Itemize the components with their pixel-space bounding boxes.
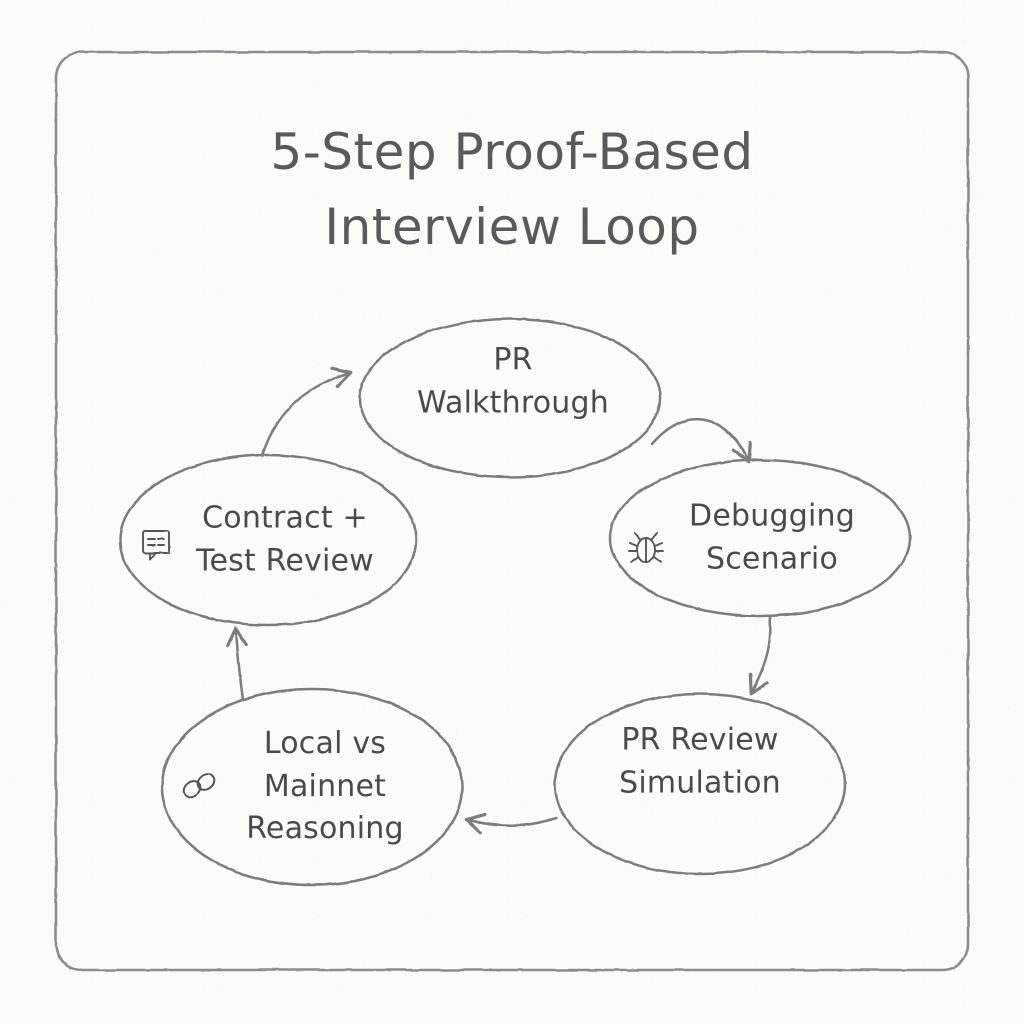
bug-icon	[629, 533, 663, 562]
node-ellipse-contract-test-review[interactable]	[120, 455, 416, 625]
node-ellipse-pr-review-simulation[interactable]	[555, 694, 845, 874]
node-ellipse-debugging-scenario[interactable]	[610, 460, 910, 616]
arrow-simulation-to-local	[468, 818, 556, 826]
document-icon	[143, 531, 169, 559]
diagram-canvas: 5-Step Proof-Based Interview Loop PR Wal…	[0, 0, 1024, 1024]
arrow-walkthrough-to-debugging	[652, 419, 748, 460]
link-icon	[181, 771, 218, 800]
node-ellipse-pr-walkthrough[interactable]	[360, 319, 660, 477]
arrow-local-to-contract	[236, 630, 243, 700]
arrow-contract-to-walkthrough	[262, 373, 349, 456]
node-ellipse-local-vs-mainnet-reasoning[interactable]	[162, 689, 462, 885]
arrow-debugging-to-simulation	[752, 617, 770, 692]
page-title: 5-Step Proof-Based Interview Loop	[112, 115, 912, 265]
